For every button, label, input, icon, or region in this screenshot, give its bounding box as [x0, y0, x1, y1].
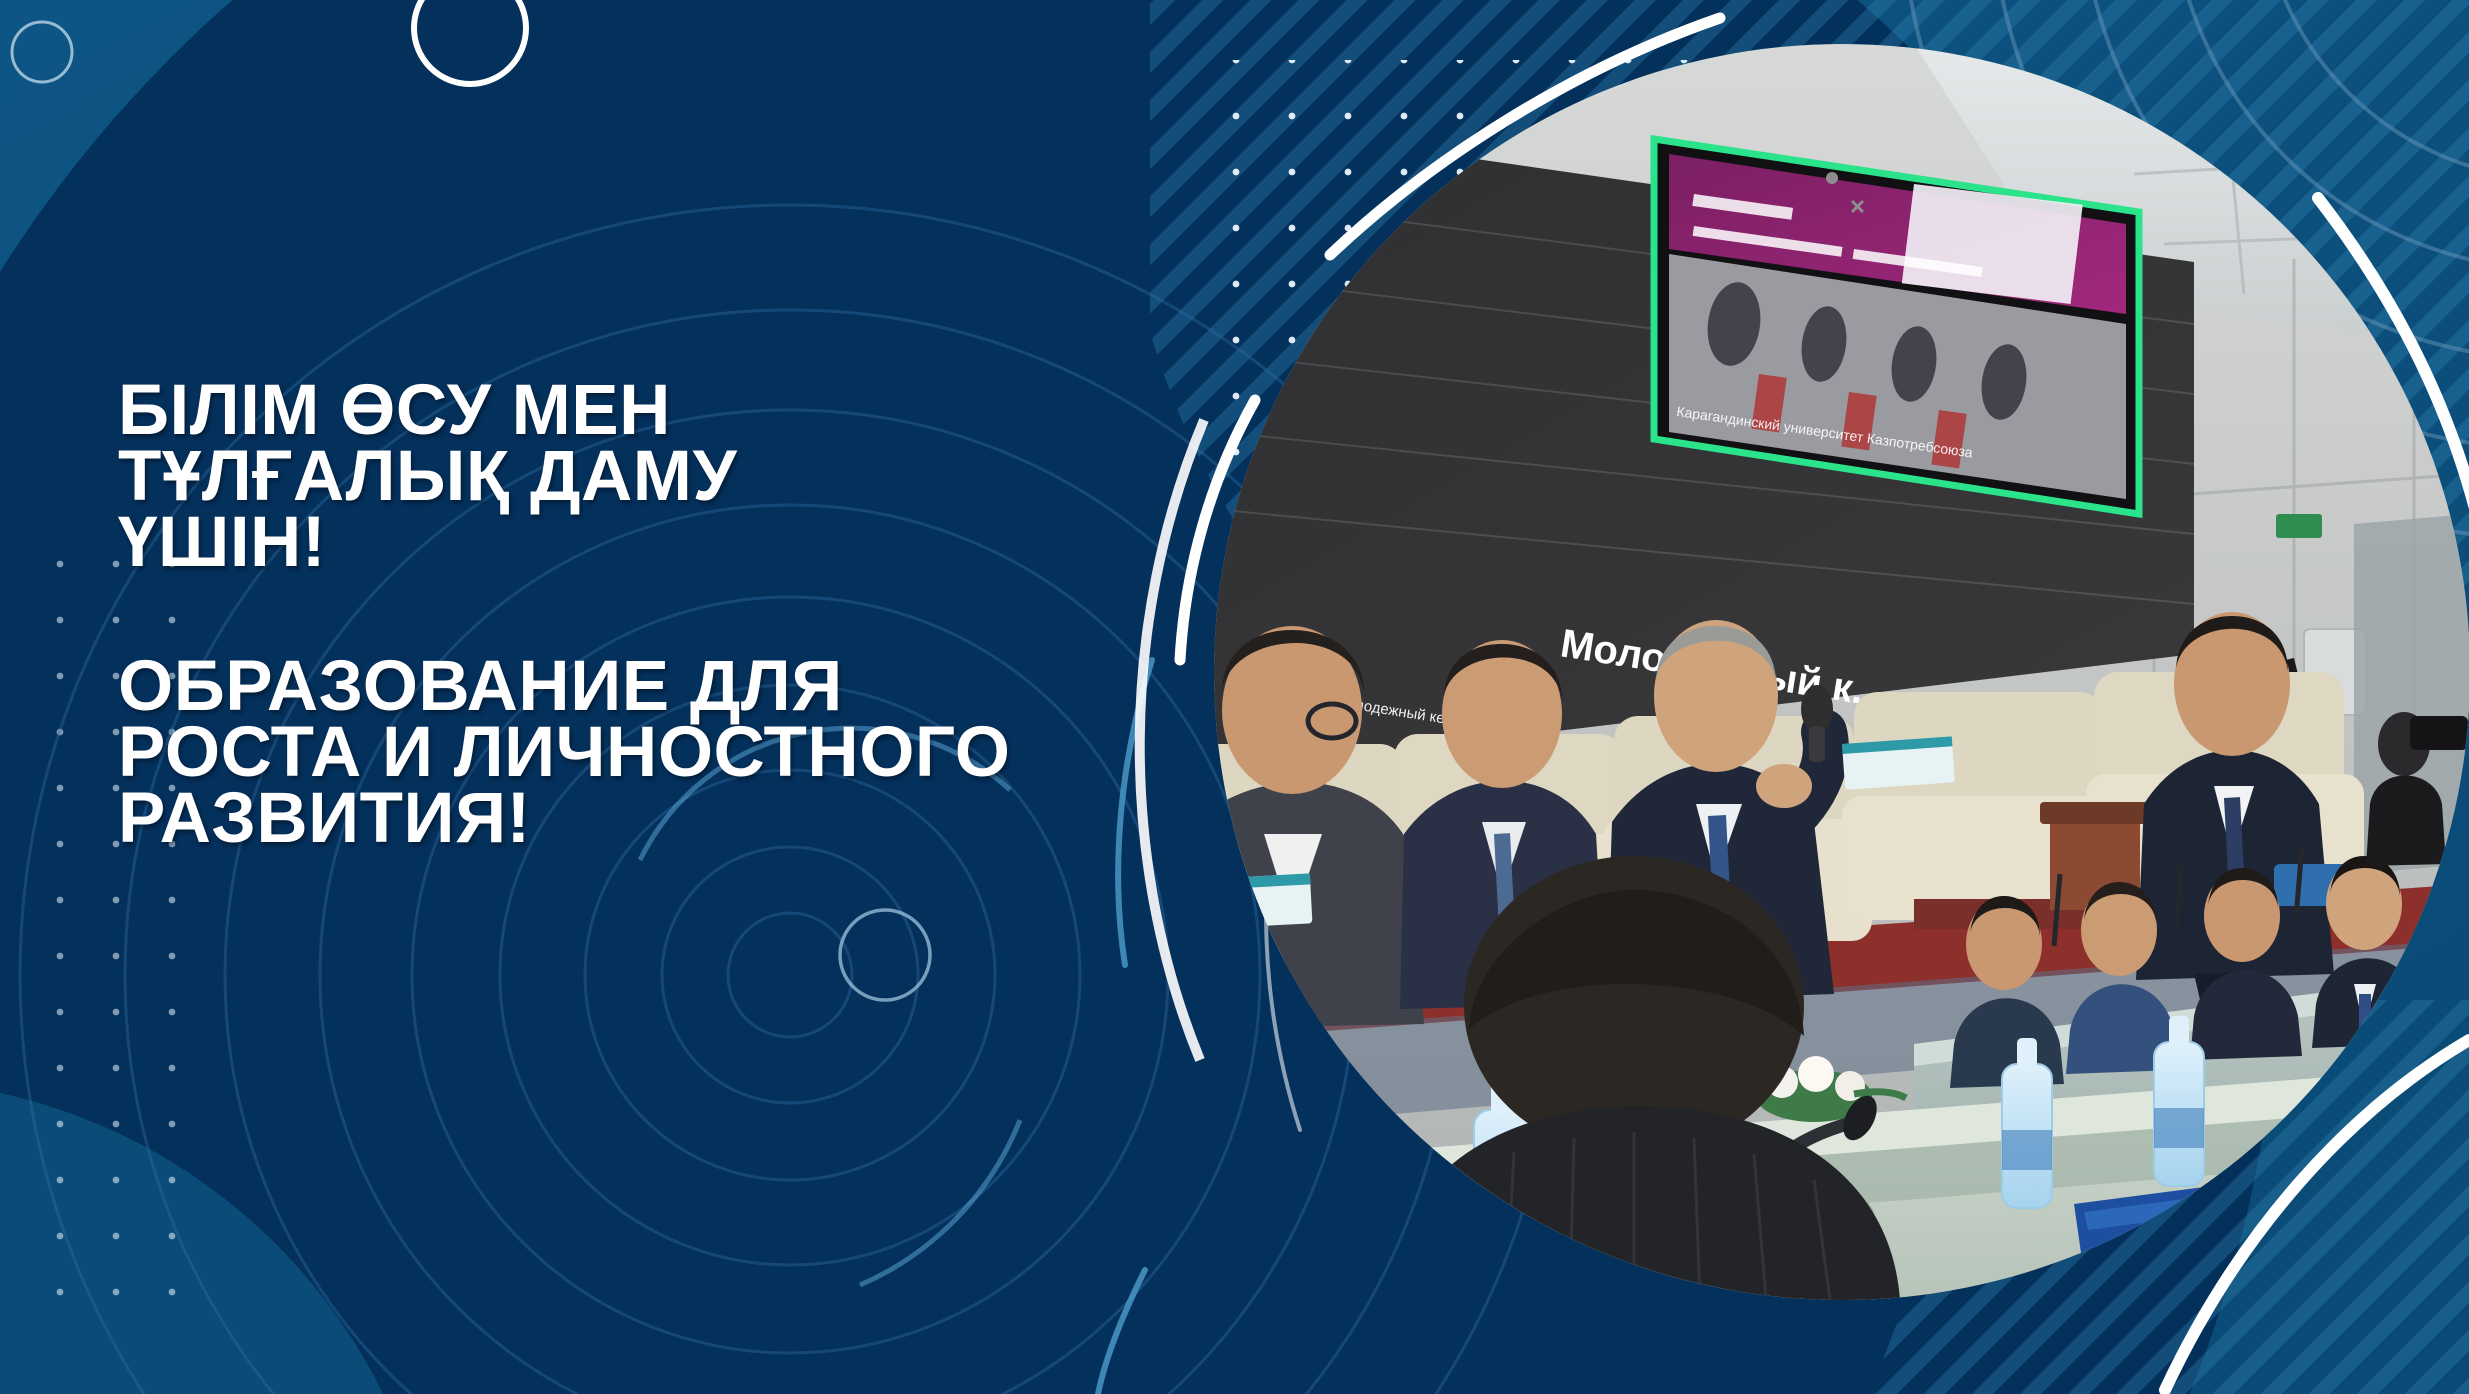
- exit-sign: [2276, 514, 2322, 538]
- dot-grid-left: [42, 560, 212, 1340]
- poster-canvas: БІЛІМ ӨСУ МЕН ТҰЛҒАЛЫҚ ДАМУ ҮШІН! ОБРАЗО…: [0, 0, 2469, 1394]
- event-photo-illustration: Карагандинский университет Казпотребсоюз…: [1214, 44, 2469, 1300]
- handheld-microphone: [1801, 685, 1833, 733]
- event-photo: Карагандинский университет Казпотребсоюз…: [1214, 44, 2469, 1300]
